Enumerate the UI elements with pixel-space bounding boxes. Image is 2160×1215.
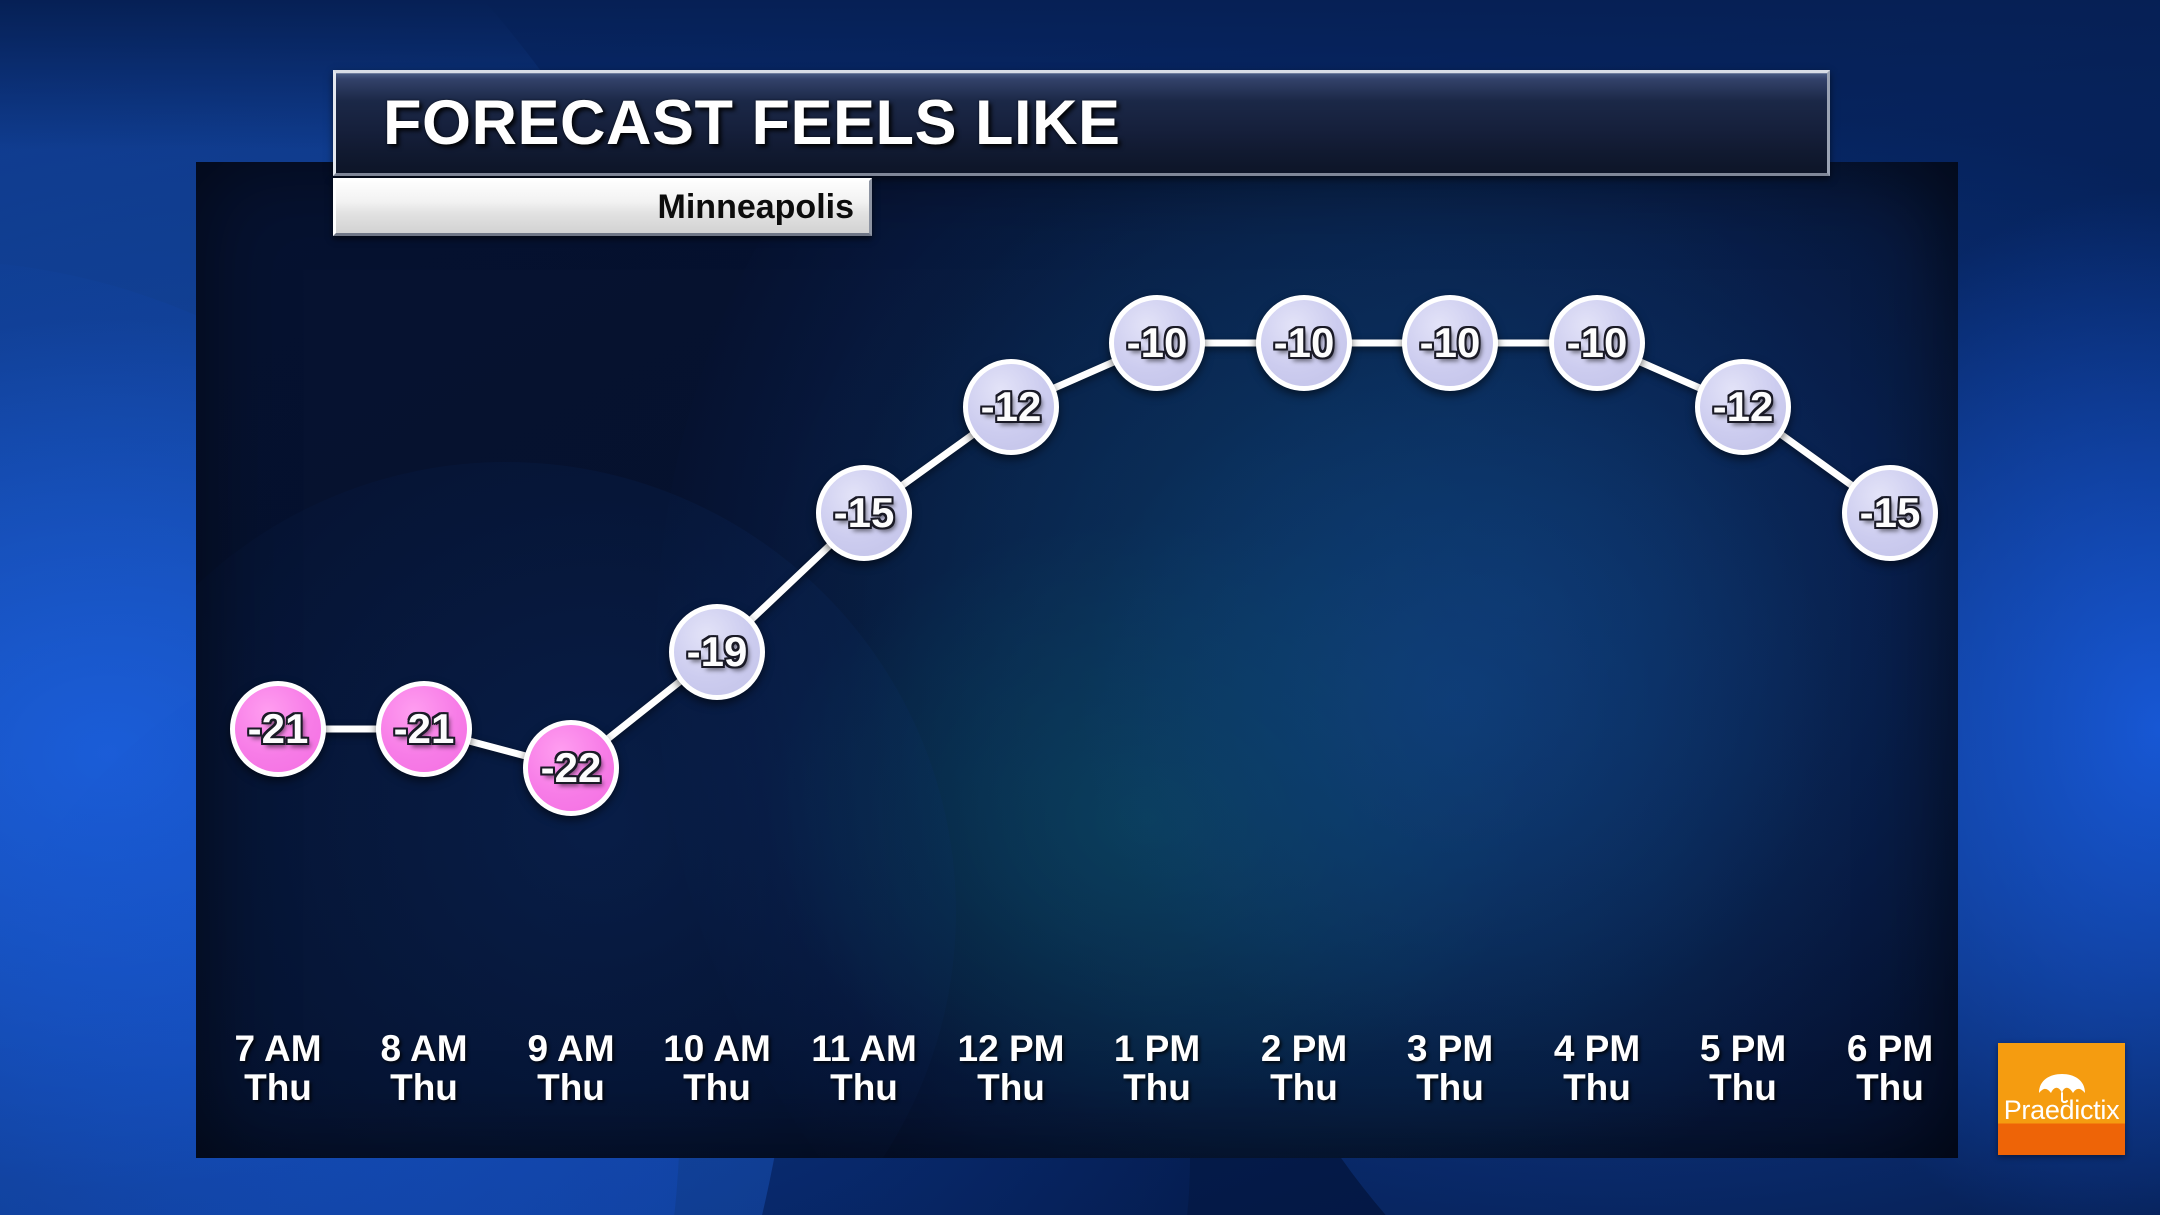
axis-tick-day: Thu [1114, 1069, 1200, 1108]
data-point-value: -10 [1274, 319, 1335, 367]
axis-tick-day: Thu [1407, 1069, 1493, 1108]
axis-tick: 10 AMThu [663, 1030, 771, 1108]
data-point-value: -21 [248, 705, 309, 753]
data-point-bubble: -12 [963, 359, 1059, 455]
axis-tick: 11 AMThu [811, 1030, 917, 1108]
axis-tick-time: 2 PM [1261, 1030, 1347, 1069]
axis-tick-time: 4 PM [1554, 1030, 1640, 1069]
axis-tick-day: Thu [663, 1069, 771, 1108]
axis-tick-time: 5 PM [1700, 1030, 1786, 1069]
data-point-value: -19 [687, 628, 748, 676]
axis-tick-day: Thu [811, 1069, 917, 1108]
axis-tick: 2 PMThu [1261, 1030, 1347, 1108]
axis-tick: 12 PMThu [958, 1030, 1065, 1108]
axis-tick-day: Thu [1700, 1069, 1786, 1108]
data-point-bubble: -19 [669, 604, 765, 700]
praedictix-logo: Praedictix [1998, 1043, 2125, 1155]
data-point-bubble: -15 [1842, 465, 1938, 561]
axis-tick: 4 PMThu [1554, 1030, 1640, 1108]
data-point-bubble: -21 [230, 681, 326, 777]
axis-tick-day: Thu [527, 1069, 614, 1108]
forecast-line [196, 162, 1958, 1158]
axis-tick-day: Thu [1847, 1069, 1933, 1108]
data-point-value: -21 [394, 705, 455, 753]
data-point-bubble: -12 [1695, 359, 1791, 455]
axis-tick-time: 10 AM [663, 1030, 771, 1069]
logo-text: Praedictix [1998, 1095, 2125, 1126]
axis-tick: 6 PMThu [1847, 1030, 1933, 1108]
axis-tick-day: Thu [234, 1069, 321, 1108]
page-title: FORECAST FEELS LIKE [383, 87, 1121, 159]
data-point-value: -22 [541, 744, 602, 792]
axis-tick-day: Thu [1554, 1069, 1640, 1108]
axis-tick: 7 AMThu [234, 1030, 321, 1108]
axis-tick: 3 PMThu [1407, 1030, 1493, 1108]
weather-graphic: -21-21-22-19-15-12-10-10-10-10-12-15 FOR… [0, 0, 2160, 1215]
data-point-bubble: -10 [1549, 295, 1645, 391]
location-bar: Minneapolis [333, 178, 872, 236]
axis-tick-time: 6 PM [1847, 1030, 1933, 1069]
time-axis: 7 AMThu8 AMThu9 AMThu10 AMThu11 AMThu12 … [196, 1030, 1958, 1140]
data-point-bubble: -22 [523, 720, 619, 816]
data-point-value: -10 [1567, 319, 1628, 367]
axis-tick: 1 PMThu [1114, 1030, 1200, 1108]
axis-tick-time: 12 PM [958, 1030, 1065, 1069]
axis-tick-time: 7 AM [234, 1030, 321, 1069]
axis-tick-day: Thu [380, 1069, 467, 1108]
title-bar: FORECAST FEELS LIKE [333, 70, 1830, 176]
data-point-value: -12 [981, 383, 1042, 431]
location-label: Minneapolis [658, 188, 869, 227]
data-point-bubble: -10 [1402, 295, 1498, 391]
data-point-bubble: -10 [1109, 295, 1205, 391]
axis-tick: 5 PMThu [1700, 1030, 1786, 1108]
data-point-bubble: -10 [1256, 295, 1352, 391]
axis-tick: 9 AMThu [527, 1030, 614, 1108]
plot-area: -21-21-22-19-15-12-10-10-10-10-12-15 [196, 162, 1958, 1158]
axis-tick-time: 8 AM [380, 1030, 467, 1069]
data-point-value: -15 [1860, 489, 1921, 537]
axis-tick-day: Thu [958, 1069, 1065, 1108]
data-point-bubble: -15 [816, 465, 912, 561]
data-point-value: -10 [1420, 319, 1481, 367]
axis-tick-time: 11 AM [811, 1030, 917, 1069]
data-point-value: -10 [1127, 319, 1188, 367]
axis-tick-time: 1 PM [1114, 1030, 1200, 1069]
axis-tick: 8 AMThu [380, 1030, 467, 1108]
axis-tick-day: Thu [1261, 1069, 1347, 1108]
axis-tick-time: 3 PM [1407, 1030, 1493, 1069]
axis-tick-time: 9 AM [527, 1030, 614, 1069]
data-point-value: -15 [834, 489, 895, 537]
data-point-bubble: -21 [376, 681, 472, 777]
data-point-value: -12 [1713, 383, 1774, 431]
chart-panel: -21-21-22-19-15-12-10-10-10-10-12-15 [196, 162, 1958, 1158]
